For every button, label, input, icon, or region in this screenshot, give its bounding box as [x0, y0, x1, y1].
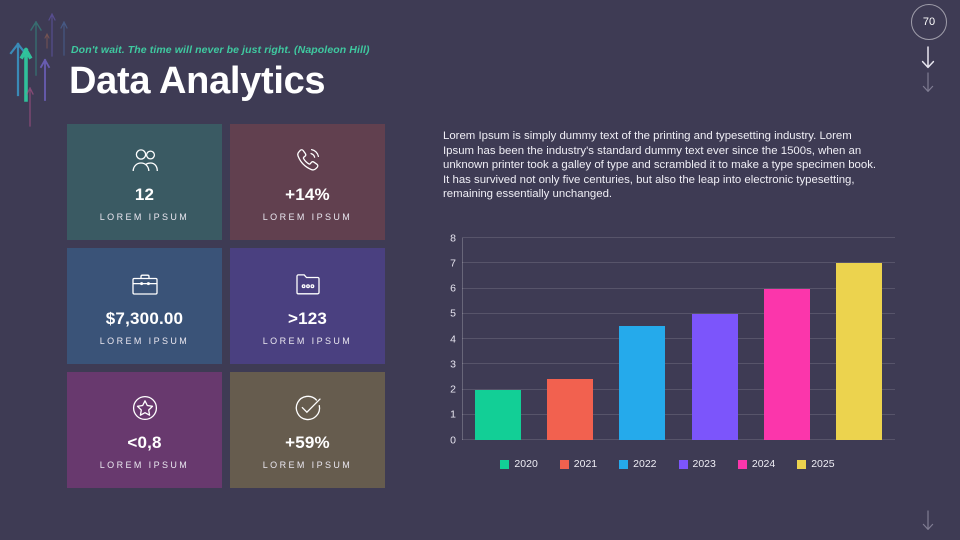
star-circle-icon [130, 391, 160, 425]
check-circle-icon [293, 391, 323, 425]
legend-label: 2024 [752, 458, 775, 470]
chart-plot-area: 012345678 [462, 238, 895, 440]
kpi-grid: 12 LOREM IPSUM +14% LOREM IPSUM [67, 124, 385, 485]
decorative-arrows [0, 0, 80, 130]
y-axis-tick: 4 [450, 334, 456, 345]
page-number: 70 [923, 16, 935, 28]
bar-2023[interactable] [692, 314, 738, 440]
slide-canvas: Don't wait. The time will never be just … [0, 0, 960, 540]
y-axis-tick: 8 [450, 233, 456, 244]
y-axis-tick: 3 [450, 359, 456, 370]
chart-legend: 202020212022202320242025 [440, 453, 895, 475]
kpi-value: <0,8 [127, 434, 161, 451]
kpi-label: LOREM IPSUM [100, 336, 189, 346]
kpi-label: LOREM IPSUM [263, 460, 352, 470]
bar-slot [679, 238, 751, 440]
legend-label: 2023 [693, 458, 716, 470]
bar-2024[interactable] [764, 289, 810, 441]
legend-item[interactable]: 2023 [679, 458, 716, 470]
bottom-scroll-button[interactable] [918, 508, 938, 539]
kpi-card-users[interactable]: 12 LOREM IPSUM [67, 124, 222, 240]
bar-slot [751, 238, 823, 440]
legend-swatch [797, 460, 806, 469]
kpi-card-briefcase[interactable]: $7,300.00 LOREM IPSUM [67, 248, 222, 364]
legend-swatch [619, 460, 628, 469]
folder-icon [294, 267, 322, 301]
body-paragraph: Lorem Ipsum is simply dummy text of the … [443, 129, 885, 202]
kpi-card-folder[interactable]: >123 LOREM IPSUM [230, 248, 385, 364]
bar-slot [534, 238, 606, 440]
page-title: Data Analytics [69, 60, 325, 103]
briefcase-icon [130, 267, 160, 301]
legend-item[interactable]: 2021 [560, 458, 597, 470]
bar-2022[interactable] [619, 326, 665, 440]
y-axis-tick: 7 [450, 258, 456, 269]
y-axis-tick: 2 [450, 384, 456, 395]
y-axis-tick: 1 [450, 410, 456, 421]
kpi-card-phone[interactable]: +14% LOREM IPSUM [230, 124, 385, 240]
page-number-badge[interactable]: 70 [911, 4, 947, 40]
bar-chart: 012345678 202020212022202320242025 [440, 230, 895, 475]
legend-label: 2021 [574, 458, 597, 470]
kpi-label: LOREM IPSUM [263, 212, 352, 222]
kpi-value: $7,300.00 [106, 310, 183, 327]
kpi-value: +59% [285, 434, 330, 451]
legend-item[interactable]: 2022 [619, 458, 656, 470]
scroll-more-button[interactable] [918, 70, 938, 101]
legend-swatch [500, 460, 509, 469]
phone-icon [294, 143, 322, 177]
bar-slot [823, 238, 895, 440]
kpi-label: LOREM IPSUM [263, 336, 352, 346]
legend-label: 2020 [514, 458, 537, 470]
quote-text: Don't wait. The time will never be just … [71, 44, 370, 56]
kpi-value: 12 [135, 186, 154, 203]
kpi-card-star[interactable]: <0,8 LOREM IPSUM [67, 372, 222, 488]
kpi-label: LOREM IPSUM [100, 212, 189, 222]
bar-2025[interactable] [836, 263, 882, 440]
bar-slot [462, 238, 534, 440]
legend-swatch [738, 460, 747, 469]
chart-bars [462, 238, 895, 440]
bar-2020[interactable] [475, 390, 521, 441]
legend-label: 2025 [811, 458, 834, 470]
y-axis-tick: 5 [450, 309, 456, 320]
legend-swatch [560, 460, 569, 469]
kpi-card-check[interactable]: +59% LOREM IPSUM [230, 372, 385, 488]
legend-label: 2022 [633, 458, 656, 470]
bar-slot [606, 238, 678, 440]
users-icon [130, 143, 160, 177]
bar-2021[interactable] [547, 379, 593, 440]
kpi-value: >123 [288, 310, 327, 327]
kpi-value: +14% [285, 186, 330, 203]
y-axis-tick: 6 [450, 283, 456, 294]
y-axis-tick: 0 [450, 435, 456, 446]
legend-item[interactable]: 2020 [500, 458, 537, 470]
legend-item[interactable]: 2025 [797, 458, 834, 470]
kpi-label: LOREM IPSUM [100, 460, 189, 470]
legend-swatch [679, 460, 688, 469]
legend-item[interactable]: 2024 [738, 458, 775, 470]
